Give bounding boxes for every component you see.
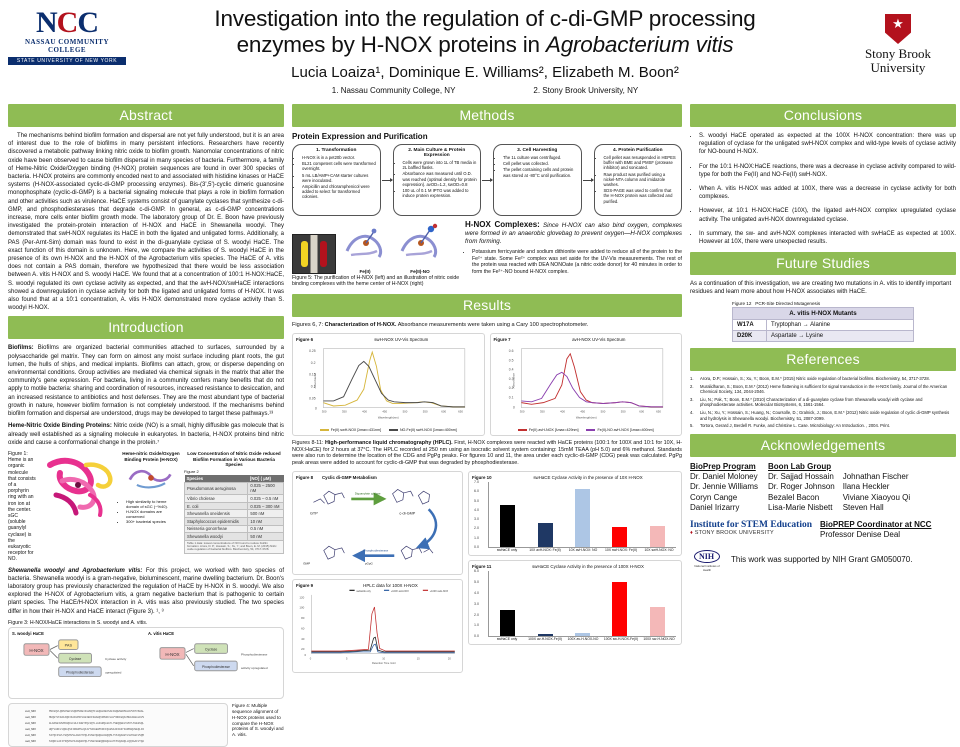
svg-text:400: 400 — [560, 410, 565, 414]
fe2-label: Fe(II) — [339, 269, 391, 274]
section-header-references: References — [690, 348, 956, 371]
figure-7-legend: Fe(II) avH-NOX [λmax=429nm] Fe(II)-NO av… — [494, 428, 679, 432]
coordinator-name: Professor Denise Deal — [820, 530, 931, 541]
references-list: 1.Arora, D.P.; Hossain, S.; Xu, Y.; Boon… — [690, 376, 956, 429]
svg-text:Diguanylate cyclase: Diguanylate cyclase — [355, 492, 381, 496]
figure-3-sw-svg: H-NOX PAS Cyclase Phosphodiesterase Cycl… — [12, 636, 144, 692]
figure-12-label: Figure 12 — [732, 301, 751, 306]
uvvis-charts-row: Figure 6 swH-NOX UV-Vis Spectrum 0.250.2… — [292, 333, 682, 436]
figure-10-plot-area: 7.0 6.0 5.0 4.0 3.0 2.0 1.0 0.0 — [488, 482, 676, 548]
figure-3-diagram: S. woodyi HaCE H-NOX PAS Cyclase Phospho… — [8, 627, 284, 699]
figure-11-title: swHaCE Cyclase Activity in the presence … — [498, 564, 678, 569]
x-tick: 100X av-H-NOX-NO — [564, 637, 602, 641]
svg-text:0.6: 0.6 — [508, 349, 513, 353]
abstract-text: The mechanisms behind biofilm formation … — [8, 132, 284, 312]
svg-text:0: 0 — [512, 405, 514, 409]
svg-text:+100X swH-NOX: +100X swH-NOX — [430, 590, 449, 593]
table-header-no: [NO] ( µM) — [248, 475, 284, 483]
svg-text:0.25: 0.25 — [309, 349, 316, 353]
y-tick: 5.0 — [474, 580, 479, 584]
y-tick: 1.0 — [474, 623, 479, 627]
stony-brook-logo: Stony Brook University — [844, 4, 952, 75]
svg-text:20: 20 — [448, 657, 451, 661]
figure-8-panel: Figure 8 Cyclic di-GMP Metabolism — [292, 471, 463, 575]
svg-text:0.05: 0.05 — [309, 396, 316, 400]
poster-root: NCC NASSAU COMMUNITY COLLEGE STATE UNIVE… — [0, 0, 960, 720]
mutants-table-header: A. vitis H-NOX Mutants — [733, 307, 914, 319]
methods-flow-diagram: 1. Transformation H-NOX is in a pet20b v… — [292, 144, 682, 216]
intro-biofilms: Biofilms: Biofilms are organized bacteri… — [8, 344, 284, 418]
svg-text:0.4: 0.4 — [508, 367, 513, 371]
figure-4-caption: Figure 4: Multiple sequence alignment of… — [232, 703, 284, 747]
y-tick: 1.0 — [474, 536, 479, 540]
svg-text:10: 10 — [382, 657, 385, 661]
method-step-2: 2. Main Culture & Protein Expression Cel… — [393, 144, 482, 216]
list-item: Dr. Sajjad Hossain — [768, 472, 835, 483]
svg-text:500: 500 — [403, 410, 408, 414]
svg-text:350: 350 — [539, 410, 544, 414]
figure-3-av-panel: A. vitis HaCE H-NOX Cyclase Phosphodiest… — [148, 631, 280, 695]
title-block: Investigation into the regulation of c-d… — [126, 4, 844, 95]
list-item: 300+ bacterial species — [126, 519, 180, 524]
section-header-acknowledgements: Acknowledgements — [690, 434, 956, 457]
methods-subhead: Protein Expression and Purification — [292, 132, 682, 141]
figures-6-7-caption: Figures 6, 7: Characterization of H-NOX.… — [292, 322, 682, 329]
method-step-1: 1. Transformation H-NOX is in a pet20b v… — [292, 144, 381, 216]
poster-title: Investigation into the regulation of c-d… — [130, 6, 840, 58]
poster-columns: Abstract The mechanisms behind biofilm f… — [0, 104, 960, 716]
list-item: 3.Liu, N.; Pak, T.; Boon, E.M.* (2010) C… — [690, 397, 956, 408]
stem-logo-line2: STONY BROOK UNIVERSITY — [695, 530, 774, 536]
svg-text:0: 0 — [310, 657, 312, 661]
list-item: Absorbance was measured until O.D. was r… — [403, 171, 478, 187]
method-step-4: 4. Protein Purification Cell pellet was … — [594, 144, 683, 216]
section-header-abstract: Abstract — [8, 104, 284, 127]
list-item: 4.Liu, N.; Xu, Y.; Hossain, S.; Huang, N… — [690, 410, 956, 421]
svg-text:avH_NOX: avH_NOX — [25, 722, 36, 725]
hnox-complexes-row: Fe(II) Fe(II)-NO — [292, 221, 682, 289]
hnox-complexes-paragraph: H-NOX Complexes: Since H-NOX can also bi… — [465, 221, 682, 246]
svg-text:300: 300 — [322, 410, 327, 414]
hnox-complexes-text: H-NOX Complexes: Since H-NOX can also bi… — [465, 221, 682, 289]
list-item: Johnathan Fischer — [843, 472, 910, 483]
figure-5-caption: Figure 5: The purification of H-NOX (lef… — [292, 275, 460, 288]
svg-text:PAS: PAS — [65, 644, 73, 648]
svg-text:Cyclase: Cyclase — [69, 657, 81, 661]
figure-3-sw-panel: S. woodyi HaCE H-NOX PAS Cyclase Phospho… — [12, 631, 144, 695]
legend-item: Fe(II) swH-NOX [λmax=431nm] — [320, 428, 381, 432]
svg-text:0.5: 0.5 — [508, 358, 513, 362]
list-item: 1.Arora, D.P.; Hossain, S.; Xu, Y.; Boon… — [690, 376, 956, 381]
figure-7-svg: 0.60.50.40.30.20.10 Absorbance 300350400… — [494, 342, 679, 422]
figure-4-alignment-image: avH_NOXswH_NOXavH_NOXswH_NOXavH_NOXswH_N… — [8, 703, 228, 747]
cyclic-digmp-metabolism-svg: GTP c-di-GMP GMP pGpG Diguanylate cyclas… — [296, 480, 459, 566]
figure-10-x-labels: swHaCE only 10X avH-NOX: Fe(II) 10X avH-… — [488, 548, 678, 552]
hnox-complexes-label: H-NOX Complexes: — [465, 220, 540, 229]
bar — [500, 610, 515, 636]
table-row: E. coli0.025 – 300 nM — [185, 502, 284, 510]
species-no-table: Species [NO] ( µM) Pseudomonas aeruginos… — [184, 475, 284, 554]
intro-hnox-label: Heme-Nitric Oxide Binding Proteins: — [8, 423, 112, 429]
svg-text:Wavelength(nm): Wavelength(nm) — [575, 415, 596, 419]
svg-text:swH_NOX: swH_NOX — [25, 728, 36, 731]
figure-7-chart: Figure 7 avH-NOX UV-Vis Spectrum 0.60.50… — [490, 333, 683, 436]
figure-11-chart: Figure 11 swHaCE Cyclase Activity in the… — [468, 560, 682, 645]
list-item: When A. vitis H-NOX was added at 100X, t… — [699, 185, 956, 201]
svg-text:120: 120 — [299, 595, 304, 599]
grant-statement: This work was supported by NIH Grant GM0… — [731, 555, 912, 564]
bar — [538, 523, 553, 547]
list-item: 100 uL of 0.1 M IPTG was added to induce… — [403, 188, 478, 198]
table-footnote: Table 1 data: lowest concentrations of N… — [185, 540, 284, 553]
y-tick: 6.0 — [474, 489, 479, 493]
figure-2-panel: Low Concentration of Nitric Oxide reduce… — [184, 451, 284, 563]
list-item: Dr. Jennie Williams — [690, 482, 758, 493]
list-item: 5.Tortora, Gerard J, Berdell R. Funke, a… — [690, 423, 956, 428]
section-header-future-studies: Future Studies — [690, 252, 956, 275]
fe2no-structure: Fe(II)-NO — [394, 221, 446, 274]
list-item: For the 10:1 H-NOX:HaCE reactions, there… — [699, 163, 956, 179]
svg-text:Phosphodiesterase: Phosphodiesterase — [202, 665, 230, 669]
svg-text:c-di-GMP: c-di-GMP — [399, 511, 415, 515]
x-tick: 100X sw-H-NOX-Fe(II) — [602, 637, 640, 641]
list-item: Steven Hall — [843, 503, 910, 514]
figure-1b-bullets: High similarity to heme domain of sGC (~… — [126, 499, 180, 524]
method-step-4-title: 4. Protein Purification — [598, 148, 679, 153]
results-right-figures: Figure 10 swHaCE Cyclase Activity in the… — [468, 471, 682, 673]
acknowledgements-groups: BioPrep Program Dr. Daniel Moloney Dr. J… — [690, 462, 956, 514]
svg-text:80: 80 — [301, 616, 305, 620]
intro-species: Shewanella woodyi and Agrobacterium viti… — [8, 567, 284, 616]
figure-1-caption: Figure 1: Heme is an organic molecule th… — [8, 451, 36, 563]
bar — [538, 634, 553, 636]
bar — [612, 527, 627, 547]
x-tick: 10X avH-NOX: NO — [564, 548, 602, 552]
figure-1b-hnox-panel: Heme-nitric Oxide/Oxygen Binding Protein… — [122, 451, 180, 563]
svg-text:upregulated: upregulated — [105, 671, 122, 675]
svg-text:60: 60 — [301, 626, 305, 630]
svg-text:Absorbance: Absorbance — [511, 372, 515, 388]
svg-text:550: 550 — [620, 410, 625, 414]
svg-text:5: 5 — [346, 657, 348, 661]
future-studies-text: As a continuation of this investigation,… — [690, 280, 956, 296]
poster-affiliations: 1. Nassau Community College, NY 2. Stony… — [130, 86, 840, 95]
x-tick: 100X av-H-NOX-Fe(II) — [526, 637, 564, 641]
list-item: Coryn Cange — [690, 493, 758, 504]
results-lower-row: Figure 8 Cyclic di-GMP Metabolism — [292, 471, 682, 673]
figure-9-chart: Figure 9 HPLC data for 100X H-NOX 120100… — [292, 579, 463, 673]
stem-logo-line1: Institute for STEM Education — [690, 520, 812, 530]
svg-text:15: 15 — [417, 657, 420, 661]
figure-2-title-line1: Low Concentration of Nitric Oxide reduce… — [187, 451, 280, 456]
bar — [612, 582, 627, 636]
svg-text:GTP: GTP — [310, 511, 318, 515]
list-item: Viviane Xiaoyou Qi — [843, 493, 910, 504]
list-item: Ilana Heckler — [843, 482, 910, 493]
figure-10-chart: Figure 10 swHaCE Cyclase Activity in the… — [468, 471, 682, 556]
fe2no-label: Fe(II)-NO — [394, 269, 446, 274]
figure-5-panel: Fe(II) Fe(II)-NO — [292, 221, 460, 289]
table-header-species: Species — [185, 475, 248, 483]
sbu-logo-line1: Stony Brook — [844, 47, 952, 61]
bioprep-coordinator: BioPREP Coordinator at NCC Professor Den… — [820, 520, 931, 541]
figure-1-2-row: Figure 1: Heme is an organic molecule th… — [8, 451, 284, 563]
list-item: 5 mL LB/AMP+CAM starter cultures were in… — [302, 173, 377, 183]
figure-2-label: Figure 2 — [184, 469, 284, 474]
heme-structure-image — [40, 451, 118, 523]
list-item: H-NOX is in a pet20b vector. — [302, 155, 377, 160]
bar — [650, 526, 665, 547]
svg-text:400: 400 — [362, 410, 367, 414]
x-tick: 100X sw-H-NOX-NO — [640, 637, 678, 641]
affiliation-1: 1. Nassau Community College, NY — [332, 86, 456, 95]
table-row: D20KAspartate → Lysine — [733, 330, 914, 341]
column-middle: Methods Protein Expression and Purificat… — [292, 104, 682, 716]
svg-text:0.2: 0.2 — [311, 361, 316, 365]
table-row: Pseudomonas aeruginosa0.025 – 2500 nM — [185, 482, 284, 495]
figure-1b-title: Heme-nitric Oxide/Oxygen Binding Protein… — [122, 451, 180, 462]
ncc-logo: NCC NASSAU COMMUNITY COLLEGE STATE UNIVE… — [8, 4, 126, 65]
list-item: Lisa-Marie Nisbett — [768, 503, 835, 514]
svg-text:activity upregulated: activity upregulated — [241, 666, 268, 670]
svg-text:40: 40 — [301, 637, 305, 641]
figure-10-title: swHaCE Cyclase Activity in the presence … — [498, 475, 678, 480]
mutants-table: Figure 12 PCR-Site Directed Mutagenesis … — [732, 301, 914, 342]
list-item: 2.Muralidharan, S.; Boon, E.M.* (2012) H… — [690, 384, 956, 395]
legend-item: Fe(II) avH-NOX [λmax=429nm] — [518, 428, 579, 432]
heme-ribbon-svg — [40, 451, 118, 523]
y-tick: 2.0 — [474, 613, 479, 617]
poster-title-line2: enzymes by H-NOX proteins in Agrobacteri… — [130, 32, 840, 58]
bar — [500, 505, 515, 547]
figure-3-av-svg: H-NOX Cyclase Phosphodiesterase Phosphod… — [148, 636, 280, 692]
bar — [575, 633, 590, 636]
nih-logo-caption: National Institutes of Health — [690, 565, 724, 572]
bar — [650, 607, 665, 636]
list-item: Potassium ferricyanide and sodium dithio… — [472, 249, 682, 275]
figure-3-caption: Figure 3: H-NOX/HaCE interactions in S. … — [8, 620, 284, 626]
list-item: Dr. Roger Johnson — [768, 482, 835, 493]
fe2no-heme-svg — [394, 221, 446, 263]
svg-text:100: 100 — [299, 606, 304, 610]
svg-text:600: 600 — [441, 410, 446, 414]
stem-coordinator-row: Institute for STEM Education ♦ STONY BRO… — [690, 520, 956, 541]
sbu-logo-line2: University — [844, 61, 952, 75]
svg-text:Phosphodiesterase: Phosphodiesterase — [363, 548, 388, 552]
list-item: In summary, the sw- and avH-NOX complexe… — [699, 230, 956, 246]
shield-icon — [885, 14, 911, 44]
svg-text:Cyclase activity: Cyclase activity — [105, 657, 127, 661]
method-step-3-title: 3. Cell Harvesting — [497, 148, 578, 153]
list-item: S. woodyi HaCE operated as expected at t… — [699, 132, 956, 157]
table-row: Neisseria gonorrheae0.5 nM — [185, 525, 284, 533]
y-tick: 3.0 — [474, 517, 479, 521]
svg-text:avH_NOX: avH_NOX — [25, 734, 36, 737]
svg-text:MHQGTVFDAFAQDIKAIHPDIVHHIEKFSH: MHQGTVFDAFAQDIKAIHPDIVHHIEKFSHAHQVDMHKVL… — [49, 716, 144, 719]
figure-12-title: PCR-Site Directed Mutagenesis — [755, 301, 820, 306]
svg-text:Retention Time (min): Retention Time (min) — [372, 661, 396, 664]
section-header-results: Results — [292, 294, 682, 317]
svg-text:+100X avH-NOX: +100X avH-NOX — [391, 590, 409, 593]
svg-text:H-NOX: H-NOX — [165, 652, 179, 657]
svg-text:20: 20 — [301, 647, 305, 651]
svg-text:Wavelength(nm): Wavelength(nm) — [378, 415, 399, 419]
list-item: Ampicillin and chloramphenicol were adde… — [302, 184, 377, 200]
section-header-introduction: Introduction — [8, 316, 284, 339]
list-item: The pellet containing cells and protein … — [503, 167, 578, 177]
svg-text:H-NOX: H-NOX — [29, 648, 43, 653]
ack-group-boonlab: Boon Lab Group Dr. Sajjad Hossain Dr. Ro… — [768, 462, 910, 514]
figure-6-svg: 0.250.20.150.10.050 Absorbance 300350400… — [296, 342, 481, 422]
section-header-methods: Methods — [292, 104, 682, 127]
list-item: Cells were grown into 1L of TB media in … — [403, 160, 478, 170]
svg-text:0: 0 — [305, 653, 307, 657]
column-right: Conclusions S. woodyi HaCE operated as e… — [690, 104, 956, 716]
y-tick: 4.0 — [474, 508, 479, 512]
figure-4-row: avH_NOXswH_NOXavH_NOXswH_NOXavH_NOXswH_N… — [8, 703, 284, 747]
svg-text:Absorbance: Absorbance — [313, 372, 317, 388]
nih-logo-text: NIH — [694, 550, 720, 563]
x-tick: swHaCE only — [488, 637, 526, 641]
figure-6-chart: Figure 6 swH-NOX UV-Vis Spectrum 0.250.2… — [292, 333, 485, 436]
stem-institute-logo: Institute for STEM Education ♦ STONY BRO… — [690, 520, 812, 536]
svg-text:swHaCE only: swHaCE only — [356, 590, 371, 593]
fe2-heme-svg — [339, 221, 391, 263]
purification-photo — [292, 234, 336, 274]
figure-9-svg: 120100806040200 05101520 Retention Time … — [296, 588, 459, 664]
svg-text:avH_NOX: avH_NOX — [25, 710, 36, 713]
table-row: Vibrio cholerae0.025 – 0.5 nM — [185, 495, 284, 503]
svg-text:HQTVANFLVQDLQSFIDNHPSLQAIVTHFG: HQTVANFLVQDLQSFIDNHPSLQAIVTHFGEHMVDFIQAH… — [49, 728, 144, 731]
sequence-alignment-svg: avH_NOXswH_NOXavH_NOXswH_NOXavH_NOXswH_N… — [11, 706, 225, 746]
svg-text:0.1: 0.1 — [508, 395, 513, 399]
species-name-italic: Agrobacterium vitis — [546, 32, 734, 57]
list-item: Raw product was purified using a nickel-… — [604, 172, 679, 188]
table-row: W17ATryptophan → Alanine — [733, 319, 914, 330]
svg-text:GMP: GMP — [303, 561, 310, 565]
svg-text:500: 500 — [600, 410, 605, 414]
svg-text:650: 650 — [458, 410, 463, 414]
svg-text:Phosphodiesterase: Phosphodiesterase — [241, 652, 268, 656]
svg-text:GLDANHIVEMFGQDLFHLIIHHYPQLSQYL: GLDANHIVEMFGQDLFHLIIHHYPQLSQYLLGIGRQLHGY… — [49, 722, 144, 725]
method-step-3: 3. Cell Harvesting The 1L culture was ce… — [493, 144, 582, 216]
figure-11-plot-area: 6.0 5.0 4.0 3.0 2.0 1.0 0.0 — [488, 571, 676, 637]
intro-hnox: Heme-Nitric Oxide Binding Proteins: Nitr… — [8, 422, 284, 447]
flow-arrow-icon — [481, 144, 493, 216]
method-step-2-title: 2. Main Culture & Protein Expression — [397, 148, 478, 158]
conclusions-list: S. woodyi HaCE operated as expected at t… — [690, 132, 956, 246]
list-item: SDS-PAGE was used to confirm that the H-… — [604, 188, 679, 204]
list-item: The 1L culture was centrifuged. — [503, 155, 578, 160]
ncc-logo-subtitle: NASSAU COMMUNITY COLLEGE — [8, 38, 126, 54]
ack-group-bioprep-title: BioPrep Program — [690, 462, 758, 471]
svg-text:pGpG: pGpG — [365, 561, 373, 565]
ack-group-bioprep: BioPrep Program Dr. Daniel Moloney Dr. J… — [690, 462, 758, 514]
svg-text:450: 450 — [580, 410, 585, 414]
x-tick: swHaCE only — [488, 548, 526, 552]
poster-header: NCC NASSAU COMMUNITY COLLEGE STATE UNIVE… — [0, 0, 960, 104]
svg-text:Cyclase: Cyclase — [205, 648, 217, 652]
column-left: Abstract The mechanisms behind biofilm f… — [8, 104, 284, 716]
svg-text:swH_NOX: swH_NOX — [25, 740, 36, 743]
svg-text:swH_NOX: swH_NOX — [25, 716, 36, 719]
y-tick: 3.0 — [474, 602, 479, 606]
torch-icon: ♦ — [690, 530, 693, 536]
affiliation-2: 2. Stony Brook University, NY — [533, 86, 638, 95]
intro-biofilms-label: Biofilms: — [8, 345, 34, 351]
figure-2-title-line2: Biofilm Formation in Various Bacteria Sp… — [193, 457, 275, 468]
svg-text:650: 650 — [656, 410, 661, 414]
svg-text:300: 300 — [519, 410, 524, 414]
list-item: H-NOX domains are conserved — [126, 509, 180, 519]
x-tick: 10X swH-NOX: Fe(II) — [602, 548, 640, 552]
y-tick: 0.0 — [474, 545, 479, 549]
y-tick: 2.0 — [474, 526, 479, 530]
table-row: Shewanella oneidensis500 nM — [185, 510, 284, 518]
legend-item: NO-Fe(II) swH-NOX [λmax=400nm] — [389, 428, 457, 432]
svg-text:MSIGQVLQNSFSEFVGQDMVDEIIGHSQTF: MSIGQVLQNSFSEFVGQDMVDEIIGHSQTFLEQHHIEFSA… — [49, 710, 144, 713]
coordinator-title: BioPREP Coordinator at NCC — [820, 520, 931, 529]
svg-text:0: 0 — [315, 406, 317, 410]
table-row: Staphylococcus epidermidis10 nM — [185, 518, 284, 526]
x-tick: 10X swH-NOX: NO — [640, 548, 678, 552]
method-step-1-title: 1. Transformation — [296, 148, 377, 153]
figure-6-legend: Fe(II) swH-NOX [λmax=431nm] NO-Fe(II) sw… — [296, 428, 481, 432]
y-tick: 6.0 — [474, 569, 479, 573]
svg-text:SIQDFLAFIYSQVMLPIAAQHFPQLTVSHV: SIQDFLAFIYSQVMLPIAAQHFPQLTVSHVHAEQQDGQHL… — [49, 740, 144, 743]
nih-logo: NIH National Institutes of Health — [690, 546, 724, 572]
y-tick: 5.0 — [474, 499, 479, 503]
fe2-structure: Fe(II) — [339, 221, 391, 274]
intro-species-label: Shewanella woodyi and Agrobacterium viti… — [8, 568, 142, 574]
svg-text:350: 350 — [342, 410, 347, 414]
bar — [575, 489, 590, 547]
y-tick: 7.0 — [474, 480, 479, 484]
svg-text:450: 450 — [382, 410, 387, 414]
flow-arrow-icon — [582, 144, 594, 216]
section-header-conclusions: Conclusions — [690, 104, 956, 127]
svg-text:Phosphodiesterase: Phosphodiesterase — [66, 671, 94, 675]
list-item: Dr. Daniel Moloney — [690, 472, 758, 483]
list-item: Daniel Irizarry — [690, 503, 758, 514]
y-tick: 4.0 — [474, 591, 479, 595]
list-item: BL21 competent cells were transformed ov… — [302, 161, 377, 171]
list-item: High similarity to heme domain of sGC (~… — [126, 499, 180, 509]
list-item: Cell pellet was resuspended in HEPES buf… — [604, 155, 679, 171]
y-tick: 0.0 — [474, 634, 479, 638]
legend-item: Fe(II)-NO avH-NOX [λmax=400nm] — [586, 428, 653, 432]
ack-group-boonlab-title: Boon Lab Group — [768, 462, 910, 471]
list-item: Bezalel Bacon — [768, 493, 835, 504]
svg-text:600: 600 — [639, 410, 644, 414]
list-item: Cell pellet was collected. — [503, 161, 578, 166]
ncc-logo-letters: NCC — [8, 10, 126, 36]
svg-text:SIYQFFSVLYGQVMVSLAAKVYPQLKVSHV: SIYQFFSVLYGQVMVSLAAKVYPQLKVSHVQAQHLDGQQM… — [49, 734, 144, 737]
list-item: However, at 10:1 H-NOX:HaCE (10X), the l… — [699, 207, 956, 223]
results-left-figures: Figure 8 Cyclic di-GMP Metabolism — [292, 471, 463, 673]
poster-title-line1: Investigation into the regulation of c-d… — [130, 6, 840, 32]
figure-11-x-labels: swHaCE only 100X av-H-NOX-Fe(II) 100X av… — [488, 637, 678, 641]
figures-8-11-caption: Figures 8-11: High-performance liquid ch… — [292, 440, 682, 467]
nih-grant-row: NIH National Institutes of Health This w… — [690, 546, 956, 572]
table-row: Shewanella woodyi50 nM — [185, 533, 284, 541]
x-tick: 10X avH-NOX: Fe(II) — [526, 548, 564, 552]
poster-authors: Lucia Loaiza¹, Dominique E. Williams², E… — [130, 64, 840, 81]
hnox-domain-diagram — [122, 462, 180, 492]
svg-text:550: 550 — [423, 410, 428, 414]
ncc-logo-bar: STATE UNIVERSITY OF NEW YORK — [8, 57, 126, 65]
flow-arrow-icon — [381, 144, 393, 216]
